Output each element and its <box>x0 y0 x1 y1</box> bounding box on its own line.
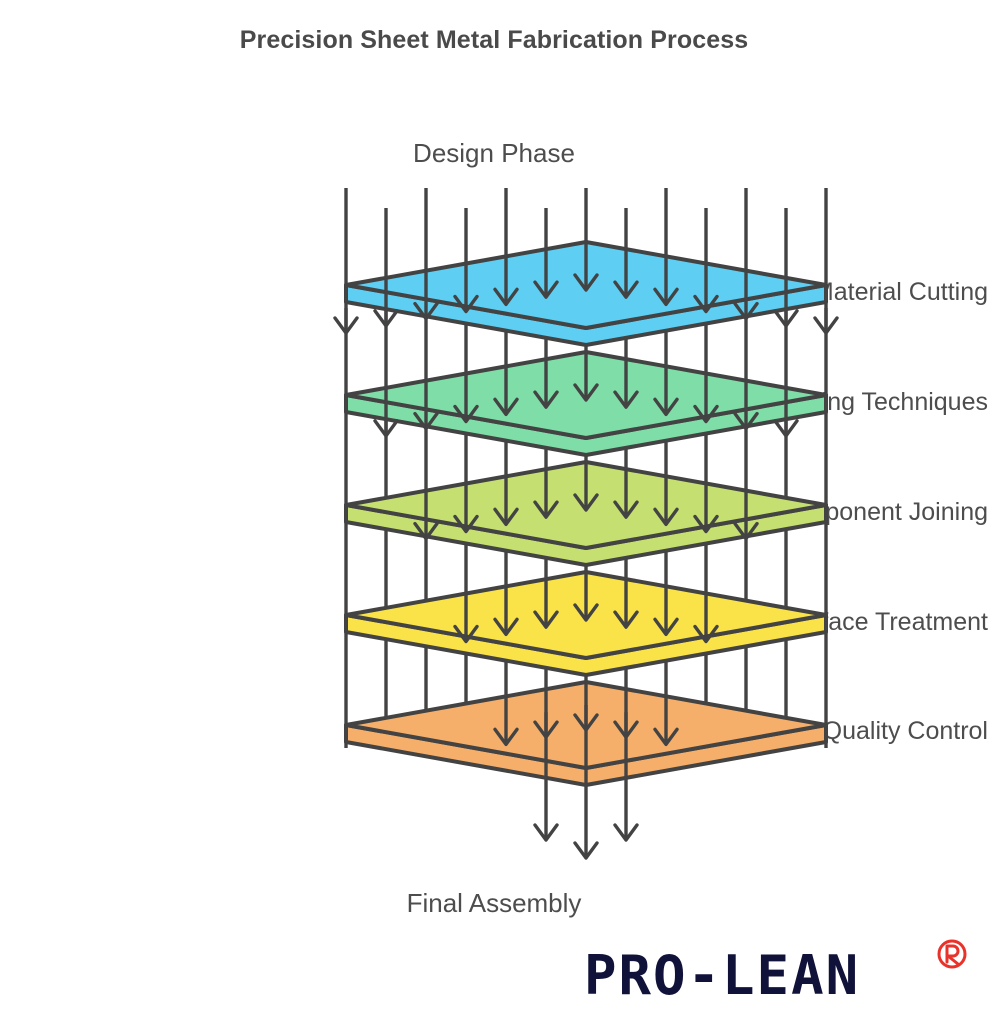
logo-wordmark: PRO-LEAN <box>584 944 860 1007</box>
process-stack-illustration <box>0 0 988 1024</box>
prolean-logo: PRO-LEAN <box>584 936 984 1016</box>
svg-text:PRO-LEAN: PRO-LEAN <box>584 944 860 1007</box>
registered-mark-icon <box>939 941 965 967</box>
diagram-canvas: Precision Sheet Metal Fabrication Proces… <box>0 0 988 1024</box>
